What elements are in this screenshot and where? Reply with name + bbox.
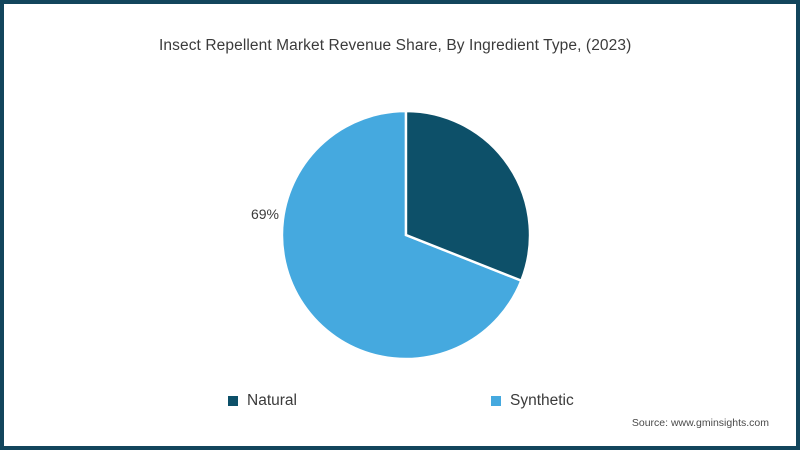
chart-figure: Insect Repellent Market Revenue Share, B… — [0, 0, 800, 450]
chart-legend: Natural Synthetic — [4, 389, 800, 413]
legend-swatch-natural — [228, 396, 238, 406]
legend-label-natural: Natural — [247, 392, 297, 410]
legend-item-natural[interactable]: Natural — [228, 389, 297, 413]
legend-swatch-synthetic — [491, 396, 501, 406]
legend-item-synthetic[interactable]: Synthetic — [491, 389, 574, 413]
legend-label-synthetic: Synthetic — [510, 392, 574, 410]
pie-chart — [282, 111, 530, 359]
chart-title: Insect Repellent Market Revenue Share, B… — [159, 37, 759, 55]
pie-label-synthetic: 69% — [209, 206, 279, 222]
pie-svg — [282, 111, 530, 359]
source-note: Source: www.gminsights.com — [632, 417, 769, 429]
